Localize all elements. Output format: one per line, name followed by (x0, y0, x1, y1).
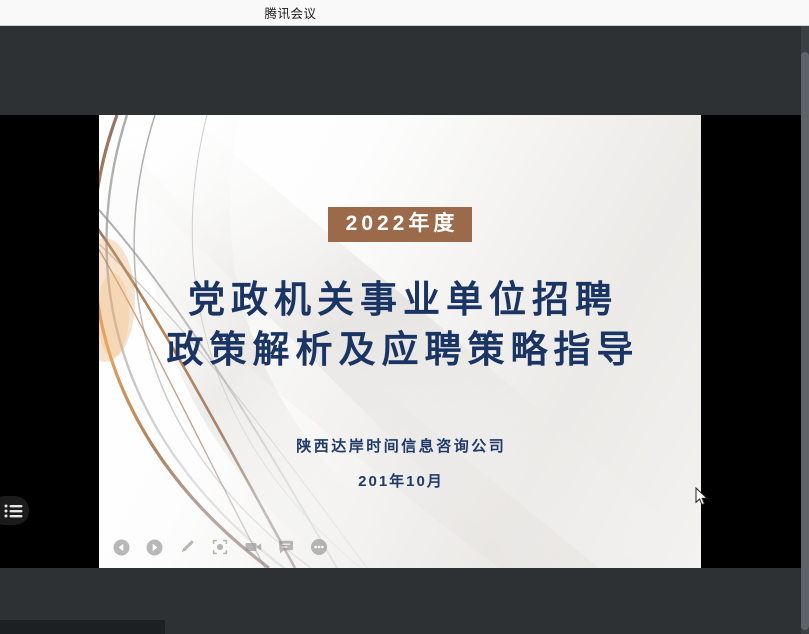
pen-icon (178, 538, 196, 556)
more-icon (310, 538, 328, 556)
record-video-button[interactable] (243, 537, 263, 557)
next-slide-icon (146, 539, 163, 556)
meeting-bottom-left-strip (0, 620, 165, 634)
slide-year-badge-text: 2022年度 (328, 207, 473, 242)
more-options-button[interactable] (309, 537, 329, 557)
previous-slide-icon (113, 539, 130, 556)
previous-slide-button[interactable] (111, 537, 131, 557)
chat-icon (277, 538, 295, 556)
window-title: 腾讯会议 (264, 3, 316, 22)
application-window: 腾讯会议 (0, 0, 809, 634)
slide-headline: 党政机关事业单位招聘 政策解析及应聘策略指导 (99, 275, 701, 375)
next-slide-button[interactable] (144, 537, 164, 557)
side-panel-toggle-button[interactable] (0, 496, 29, 525)
vertical-scrollbar-thumb[interactable] (801, 52, 809, 630)
list-icon (4, 503, 24, 519)
slide-headline-line1: 党政机关事业单位招聘 (99, 275, 701, 325)
chat-button[interactable] (276, 537, 296, 557)
slide-date: 201年10月 (99, 470, 701, 491)
slide-year-badge: 2022年度 (99, 207, 701, 242)
mouse-cursor (695, 487, 709, 507)
spotlight-button[interactable] (210, 537, 230, 557)
vertical-scrollbar-track[interactable] (801, 26, 809, 634)
spotlight-icon (211, 538, 229, 556)
slide-headline-line2: 政策解析及应聘策略指导 (99, 325, 701, 375)
slide-organization: 陕西达岸时间信息咨询公司 (99, 435, 701, 456)
pen-button[interactable] (177, 537, 197, 557)
window-titlebar: 腾讯会议 (0, 0, 809, 26)
slide-presenter-toolbar (111, 537, 329, 557)
meeting-top-chrome (0, 26, 809, 115)
video-camera-icon (244, 538, 263, 556)
shared-slide[interactable]: 2022年度 党政机关事业单位招聘 政策解析及应聘策略指导 陕西达岸时间信息咨询… (99, 115, 701, 568)
